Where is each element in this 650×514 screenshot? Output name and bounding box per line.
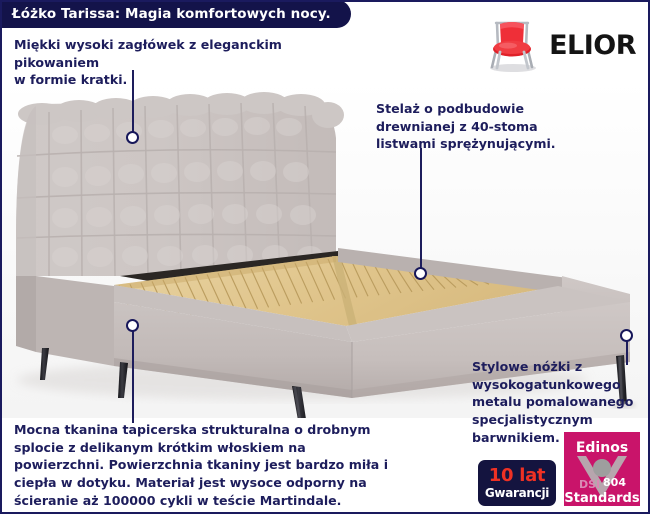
certification-badges: 10 lat Gwarancji Edinos DSI 804 Standard… (478, 432, 640, 506)
leader-line-legs (626, 341, 628, 365)
infographic-page: Łóżko Tarissa: Magia komfortowych nocy. (0, 0, 650, 514)
brand-logo: ELIOR (460, 14, 636, 76)
brand-wordmark: ELIOR (549, 32, 636, 59)
edinos-804-label: 804 (603, 476, 626, 489)
edinos-top-label: Edinos (576, 440, 628, 456)
edinos-standards-label: Standards (564, 491, 639, 506)
edinos-standards-badge: Edinos DSI 804 Standards (564, 432, 640, 506)
edinos-dsi-label: DSI (579, 478, 600, 491)
callout-dot-frame (414, 267, 427, 280)
title-banner: Łóżko Tarissa: Magia komfortowych nocy. (0, 0, 351, 28)
warranty-years: 10 lat (489, 467, 545, 485)
callout-dot-legs (620, 329, 633, 342)
warranty-sub-label: Gwarancji (485, 487, 549, 499)
callout-dot-headboard (126, 131, 139, 144)
leader-line-headboard (132, 70, 134, 138)
annotation-frame: Stelaż o podbudowie drewnianej z 40-stom… (376, 100, 626, 153)
callout-dot-fabric (126, 319, 139, 332)
leader-line-frame (420, 148, 422, 274)
annotation-headboard: Miękki wysoki zagłówek z eleganckim piko… (14, 36, 344, 89)
red-chair-icon (483, 16, 541, 74)
leader-line-fabric (132, 325, 134, 423)
annotation-fabric: Mocna tkanina tapicerska strukturalna o … (14, 421, 464, 509)
warranty-badge: 10 lat Gwarancji (478, 460, 556, 506)
page-title: Łóżko Tarissa: Magia komfortowych nocy. (12, 6, 331, 22)
headboard (16, 92, 344, 276)
